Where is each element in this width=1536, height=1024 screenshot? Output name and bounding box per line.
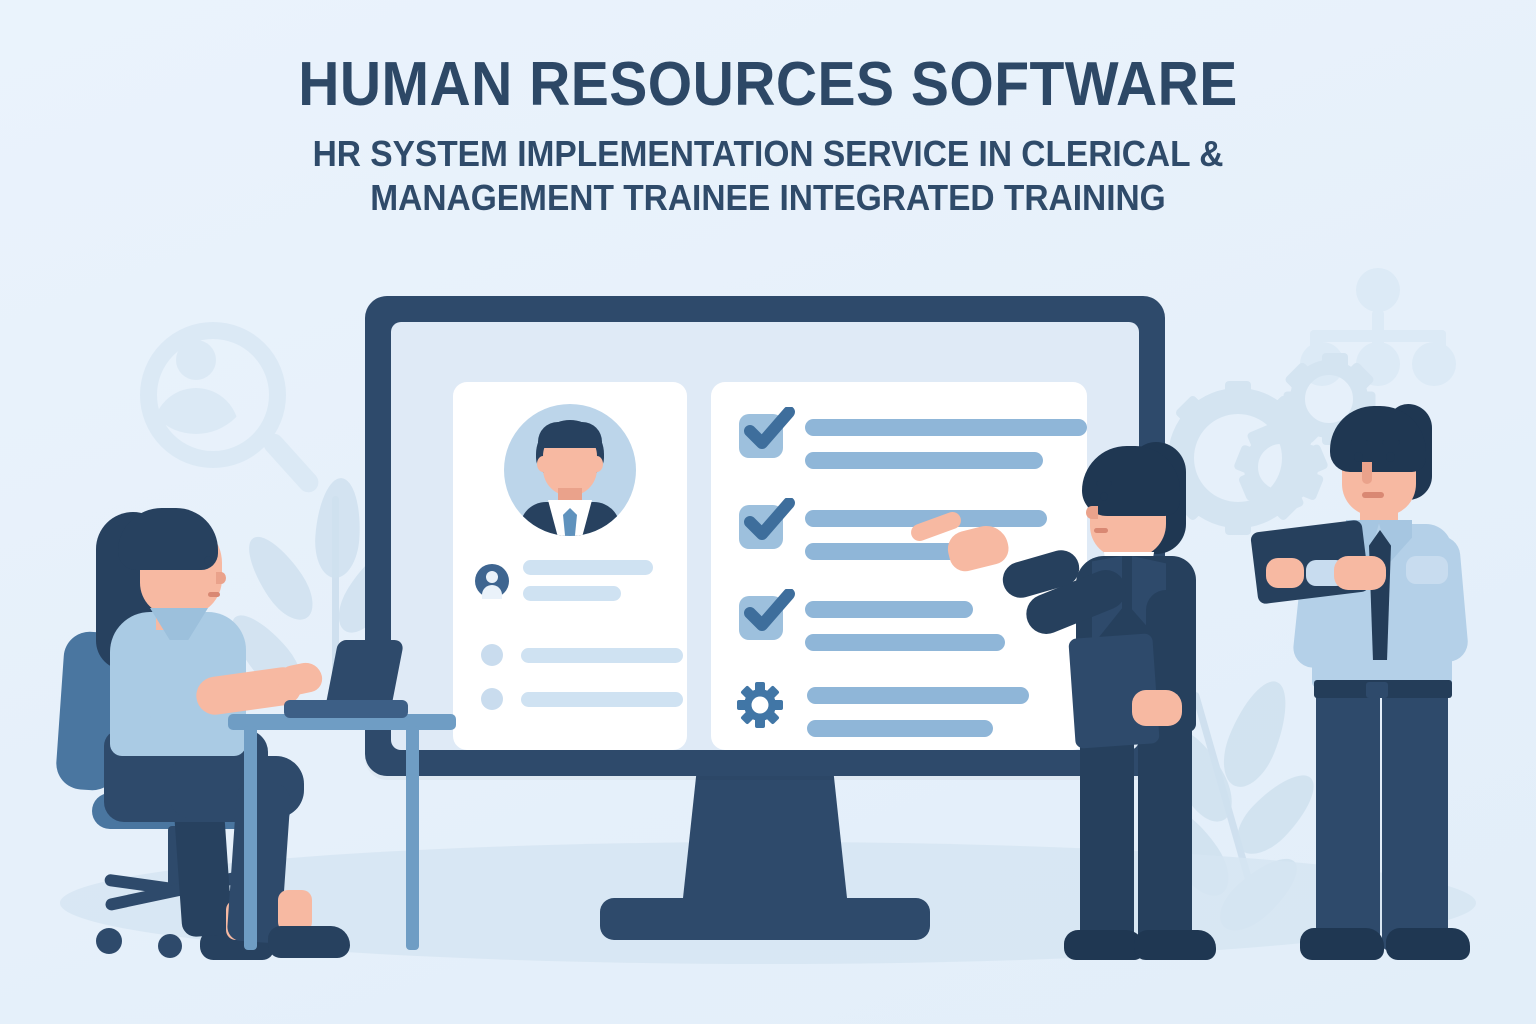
- man-hand: [1334, 556, 1386, 590]
- checkbox-checked-icon[interactable]: [739, 414, 783, 458]
- page-subtitle-line-2: MANAGEMENT TRAINEE INTEGRATED TRAINING: [182, 176, 1354, 220]
- laptop-keyboard-base: [284, 700, 408, 718]
- placeholder-bar: [807, 687, 1029, 704]
- man-nose: [1362, 462, 1372, 484]
- placeholder-bar: [521, 648, 683, 663]
- page-title: HUMAN RESOURCES SOFTWARE: [61, 52, 1474, 118]
- monitor-stand-neck: [683, 776, 847, 898]
- office-chair-caster: [96, 928, 122, 954]
- header-block: HUMAN RESOURCES SOFTWARE HR SYSTEM IMPLE…: [0, 52, 1536, 220]
- user-avatar-portrait-icon: [504, 404, 636, 536]
- checklist-item[interactable]: [739, 596, 1005, 651]
- woman-nose: [216, 572, 226, 584]
- profile-field-row: [481, 688, 683, 710]
- man-shirt-cuff: [1406, 556, 1448, 584]
- woman-hair: [118, 508, 218, 570]
- man-eye: [1386, 452, 1395, 462]
- woman-eye: [204, 556, 212, 565]
- woman-mouth: [208, 592, 220, 597]
- page-subtitle: HR SYSTEM IMPLEMENTATION SERVICE IN CLER…: [182, 132, 1354, 220]
- man-shoe: [1386, 928, 1470, 960]
- man-nose: [1086, 506, 1098, 519]
- man-eye: [1100, 492, 1108, 501]
- man-eyebrow: [1382, 440, 1400, 445]
- placeholder-bar: [807, 720, 993, 737]
- man-shoe: [1300, 928, 1384, 960]
- page-subtitle-line-1: HR SYSTEM IMPLEMENTATION SERVICE IN CLER…: [182, 132, 1354, 176]
- bullet-dot-icon: [481, 644, 503, 666]
- man-mouth: [1094, 528, 1108, 533]
- man-leg: [1382, 692, 1448, 950]
- man-mouth: [1362, 492, 1384, 498]
- man-leg: [1316, 692, 1380, 950]
- man-shoe: [1064, 930, 1144, 960]
- placeholder-bar: [805, 601, 973, 618]
- profile-field-row: [475, 560, 653, 601]
- man-hand: [1266, 558, 1304, 588]
- man-leg: [1138, 722, 1192, 948]
- man-shoe: [1134, 930, 1216, 960]
- desk-leg: [244, 726, 257, 950]
- man-tie: [1369, 530, 1391, 660]
- woman-shoe: [268, 926, 350, 958]
- man-eye: [1354, 452, 1363, 462]
- man-belt-buckle: [1366, 682, 1388, 698]
- checklist-settings-item[interactable]: [737, 682, 1029, 737]
- checkbox-checked-icon[interactable]: [739, 505, 783, 549]
- gear-icon[interactable]: [737, 682, 783, 728]
- office-chair-caster: [158, 934, 182, 958]
- placeholder-bar: [521, 692, 683, 707]
- person-badge-icon: [475, 564, 509, 598]
- man-leg: [1080, 722, 1134, 948]
- checkbox-checked-icon[interactable]: [739, 596, 783, 640]
- placeholder-bar: [805, 452, 1043, 469]
- placeholder-bar: [523, 586, 621, 601]
- man-eyebrow: [1350, 440, 1368, 445]
- illustration-canvas: HUMAN RESOURCES SOFTWARE HR SYSTEM IMPLE…: [0, 0, 1536, 1024]
- profile-field-row: [481, 644, 683, 666]
- monitor-stand-base: [600, 898, 930, 940]
- placeholder-bar: [523, 560, 653, 575]
- placeholder-bar: [805, 634, 1005, 651]
- bullet-dot-icon: [481, 688, 503, 710]
- desk-leg: [406, 726, 419, 950]
- man-hand: [1132, 690, 1182, 726]
- employee-profile-card[interactable]: [453, 382, 687, 750]
- woman-hand: [275, 660, 324, 698]
- man-eyebrow: [1096, 481, 1112, 486]
